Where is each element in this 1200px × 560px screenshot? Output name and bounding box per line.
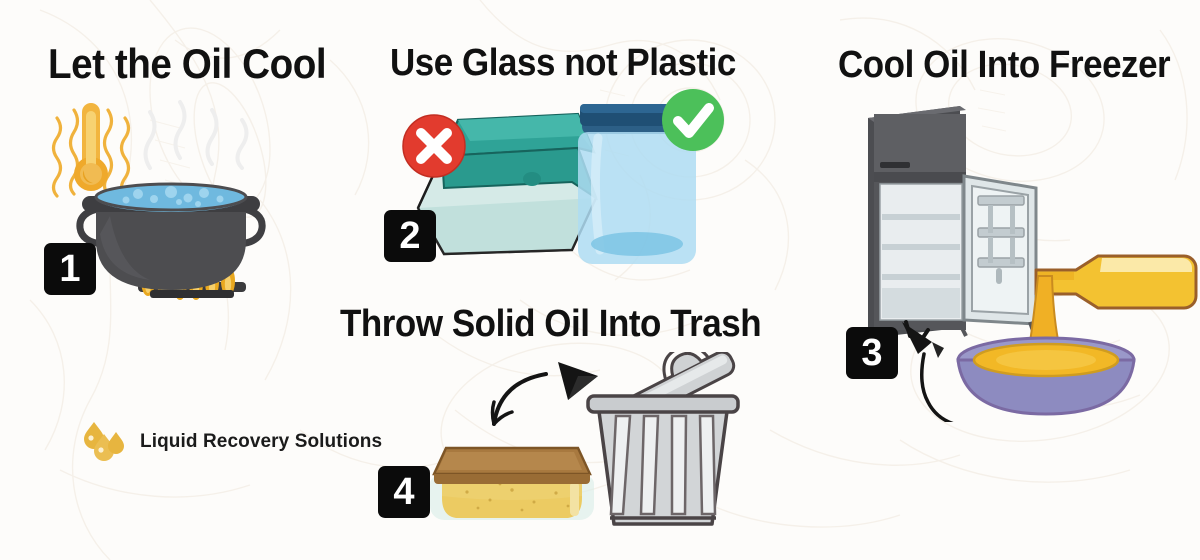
oil-bottle-icon xyxy=(1036,256,1196,308)
arrow-icon xyxy=(493,362,599,424)
step-4-badge: 4 xyxy=(378,466,430,518)
brand-lockup: Liquid Recovery Solutions xyxy=(82,420,382,464)
oil-droplets-icon xyxy=(82,420,128,464)
green-check-icon xyxy=(662,89,724,151)
step-3-badge: 3 xyxy=(846,327,898,379)
refrigerator-icon xyxy=(868,106,1036,338)
steam-icon xyxy=(146,102,247,168)
step-4-title: Throw Solid Oil Into Trash xyxy=(340,303,761,346)
step-4-illustration xyxy=(372,352,742,552)
step-2-badge: 2 xyxy=(384,210,436,262)
step-2-title: Use Glass not Plastic xyxy=(390,42,736,85)
infographic-poster: Let the Oil Cool xyxy=(0,0,1200,560)
thermometer-icon xyxy=(74,103,108,191)
step-1-badge: 1 xyxy=(44,243,96,295)
step-3-title: Cool Oil Into Freezer xyxy=(838,44,1170,87)
step-1-title: Let the Oil Cool xyxy=(48,40,326,88)
bowl-icon xyxy=(958,338,1134,414)
trash-bin-icon xyxy=(588,352,738,524)
brand-name: Liquid Recovery Solutions xyxy=(140,431,382,453)
solid-oil-container-icon xyxy=(430,448,594,520)
red-x-icon xyxy=(403,115,465,177)
step-2-illustration xyxy=(382,86,742,276)
power-plug-icon xyxy=(902,322,954,422)
